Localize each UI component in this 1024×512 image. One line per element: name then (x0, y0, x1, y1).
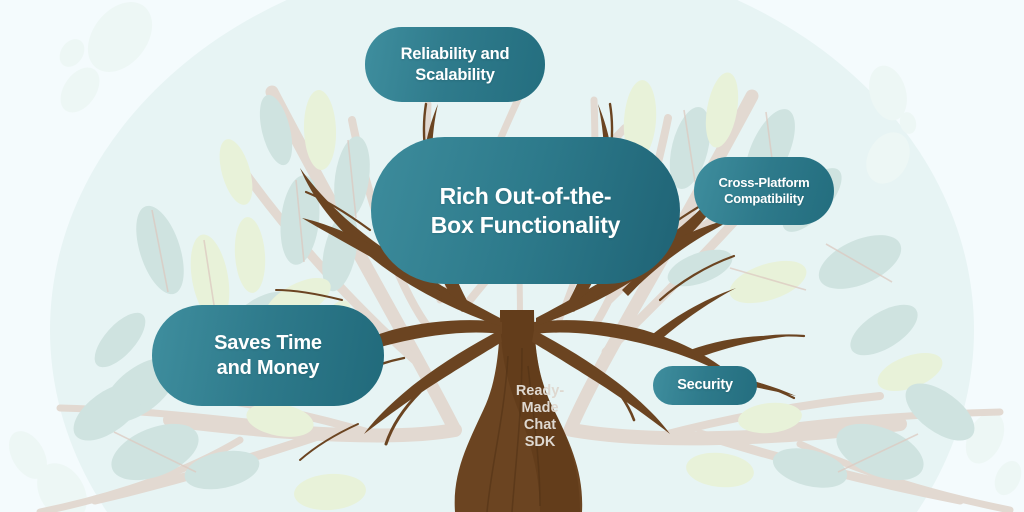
trunk-center-label: Ready- Made Chat SDK (500, 383, 580, 451)
trunk-label-line2: Made (521, 400, 558, 416)
benefit-label-line1: Rich Out-of-the- (440, 183, 612, 209)
benefit-bubble-reliability-label: Reliability and Scalability (401, 44, 510, 84)
benefit-bubble-cross-platform[interactable]: Cross-Platform Compatibility (694, 157, 834, 225)
benefit-label-line2: and Money (217, 357, 320, 379)
benefit-label-line2: Scalability (415, 66, 494, 84)
benefit-label-line1: Cross-Platform (718, 175, 809, 190)
benefit-bubble-reliability[interactable]: Reliability and Scalability (365, 27, 545, 102)
benefit-bubble-security-label: Security (677, 377, 733, 395)
benefit-bubble-saves-time-label: Saves Time and Money (214, 331, 322, 380)
benefit-bubble-security[interactable]: Security (653, 366, 757, 405)
trunk-label-line3: Chat (524, 417, 556, 433)
benefit-label-line1: Reliability and (401, 45, 510, 63)
benefit-label-line1: Security (677, 377, 733, 393)
benefit-label-line2: Compatibility (724, 191, 804, 206)
benefit-label-line2: Box Functionality (431, 212, 621, 238)
benefit-label-line1: Saves Time (214, 332, 322, 354)
benefit-bubble-saves-time[interactable]: Saves Time and Money (152, 305, 384, 406)
benefit-bubble-rich-functionality[interactable]: Rich Out-of-the- Box Functionality (371, 137, 680, 284)
infographic-canvas: Reliability and Scalability Rich Out-of-… (0, 0, 1024, 512)
trunk-label-line4: SDK (525, 434, 556, 450)
trunk-label-line1: Ready- (516, 383, 564, 399)
benefit-bubble-rich-functionality-label: Rich Out-of-the- Box Functionality (431, 182, 621, 238)
benefit-bubble-cross-platform-label: Cross-Platform Compatibility (718, 175, 809, 207)
